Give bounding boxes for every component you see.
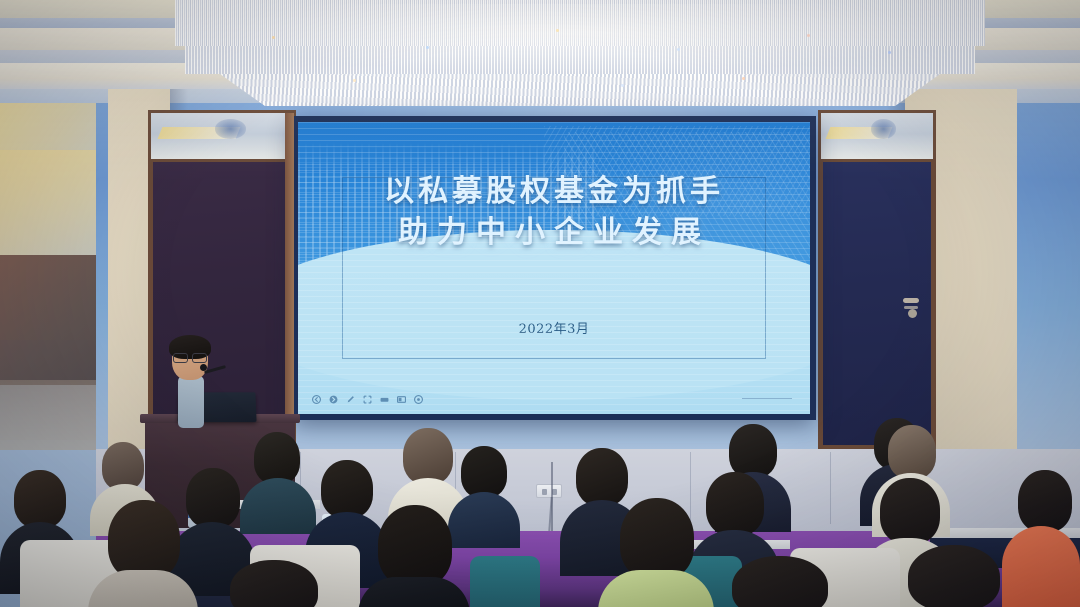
audience-person xyxy=(358,505,470,607)
speaker-glasses-icon xyxy=(173,353,207,361)
slide-title: 以私募股权基金为抓手 助力中小企业发展 xyxy=(298,172,810,254)
slide-title-line-1: 以私募股权基金为抓手 xyxy=(298,172,810,213)
chandelier-tier-lower xyxy=(205,74,955,106)
previous-slide-icon[interactable] xyxy=(312,395,321,404)
chandelier-sparkle xyxy=(742,77,745,80)
lobby-dark-woodwork xyxy=(0,255,96,385)
audience-head xyxy=(732,556,828,607)
slide-title-line-2: 助力中小企业发展 xyxy=(298,213,810,254)
speaker-presenter xyxy=(148,338,234,426)
chandelier-sparkle xyxy=(888,51,891,54)
audience-head xyxy=(14,470,66,528)
door-handle-icon xyxy=(903,298,919,303)
audience-head xyxy=(880,478,940,544)
chandelier-sparkle xyxy=(426,46,429,49)
zoom-slide-icon[interactable] xyxy=(363,395,372,404)
led-screen-frame: 以私募股权基金为抓手 助力中小企业发展 2022年3月 xyxy=(292,116,816,420)
door-right-transom xyxy=(818,110,936,162)
presentation-slide[interactable]: 以私募股权基金为抓手 助力中小企业发展 2022年3月 xyxy=(298,122,810,414)
audience-head xyxy=(102,442,144,490)
outlet-socket-icon xyxy=(542,489,547,495)
audience-head xyxy=(230,560,318,607)
pen-annotation-icon[interactable] xyxy=(346,395,355,404)
audience-shoulders xyxy=(598,570,714,607)
speaker-shirt xyxy=(178,376,204,428)
audience-head xyxy=(1018,470,1072,532)
door-right-panel xyxy=(818,162,936,450)
slide-date: 2022年3月 xyxy=(298,318,810,337)
transom-reflection xyxy=(215,119,246,138)
audience-person xyxy=(200,560,350,607)
microphone-head xyxy=(200,364,207,371)
lobby-floor-reflection xyxy=(0,380,110,450)
chair xyxy=(470,556,540,607)
audience-person-ponytail xyxy=(88,500,198,607)
audience-head xyxy=(108,500,180,580)
audience-person xyxy=(880,545,1030,607)
door-lock-icon xyxy=(908,309,917,318)
audience-head xyxy=(706,472,764,536)
next-slide-icon[interactable] xyxy=(329,395,338,404)
crystal-chandelier xyxy=(175,0,985,112)
audience-head xyxy=(461,446,507,498)
door-right xyxy=(818,110,936,450)
audience-head xyxy=(378,505,452,587)
chandelier-sparkle xyxy=(621,84,624,87)
audience-shoulders xyxy=(358,577,470,607)
wall-power-outlet xyxy=(536,484,562,498)
audience-head xyxy=(254,432,300,484)
presenter-view-icon[interactable] xyxy=(397,395,406,404)
audience-head xyxy=(729,424,777,478)
more-options-icon[interactable] xyxy=(414,395,423,404)
wall-panel-seam xyxy=(830,452,831,524)
door-left-transom xyxy=(148,110,296,162)
slide-bottom-rule xyxy=(742,398,792,399)
subtitle-icon[interactable] xyxy=(380,395,389,404)
audience-head xyxy=(908,545,1000,607)
powerpoint-slideshow-toolbar[interactable] xyxy=(312,395,423,404)
chandelier-glow xyxy=(216,4,945,74)
audience-person xyxy=(700,556,860,607)
transom-reflection xyxy=(871,119,896,138)
audience-head xyxy=(888,425,936,479)
audience-head xyxy=(620,498,694,580)
conference-photo-scene: 以私募股权基金为抓手 助力中小企业发展 2022年3月 xyxy=(0,0,1080,607)
audience-shoulders xyxy=(88,570,198,607)
audience-person-green xyxy=(598,498,714,607)
audience-head xyxy=(403,428,453,484)
chandelier-sparkle xyxy=(807,34,810,37)
